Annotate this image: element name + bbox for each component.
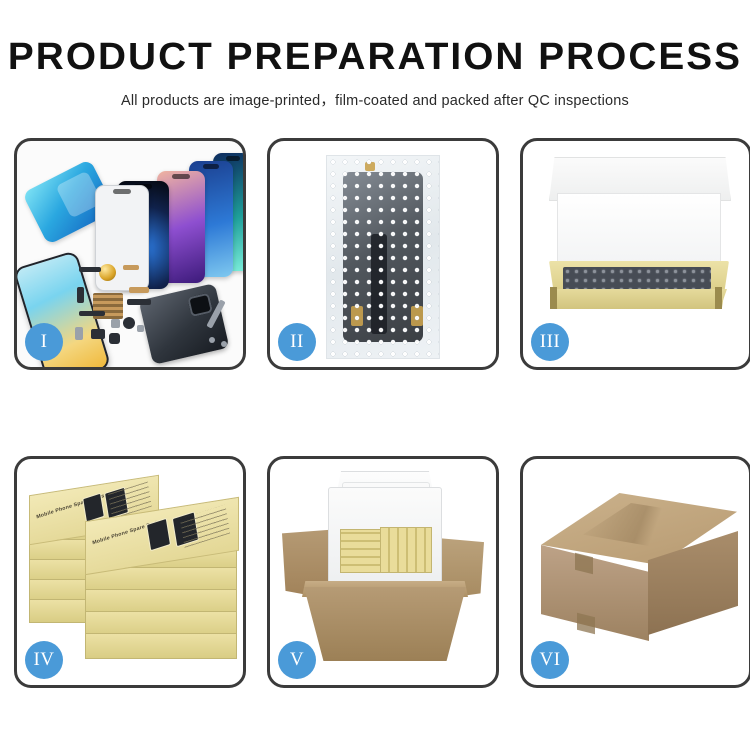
step-panel-i: I	[14, 138, 246, 370]
part-icon	[79, 267, 101, 272]
step-number-badge: I	[25, 323, 63, 361]
screw-icon	[209, 337, 215, 343]
bubble-texture	[327, 156, 439, 358]
step-panel-iii: III	[520, 138, 750, 370]
header: PRODUCT PREPARATION PROCESS All products…	[0, 0, 750, 110]
part-icon	[123, 265, 139, 270]
part-icon	[127, 299, 151, 305]
part-icon	[91, 329, 105, 339]
kraft-box-front-icon	[551, 289, 727, 309]
box-corner-icon	[550, 287, 557, 309]
step-number-badge: III	[531, 323, 569, 361]
kraft-boxes-icon	[380, 527, 432, 573]
process-step-grid: I II	[14, 138, 736, 738]
part-icon	[109, 333, 120, 344]
speaker-component-icon	[99, 264, 116, 281]
bubble-wrap-bag-icon	[326, 155, 440, 359]
part-icon	[79, 311, 105, 316]
step-panel-vi: VI	[520, 456, 750, 688]
carton-body-icon	[304, 587, 466, 661]
part-icon	[75, 327, 83, 340]
part-icon	[77, 287, 84, 303]
screw-icon	[221, 341, 227, 347]
step-number-badge: V	[278, 641, 316, 679]
tape-icon	[577, 613, 595, 634]
box-corner-icon	[715, 287, 722, 309]
page-subtitle: All products are image-printed，film-coat…	[0, 89, 750, 110]
part-icon	[111, 319, 120, 328]
part-icon	[123, 317, 135, 329]
step-panel-iv: Mobile Phone Spare Parts Mobile Phone Sp…	[14, 456, 246, 688]
step-number-badge: VI	[531, 641, 569, 679]
step-panel-v: V	[267, 456, 499, 688]
phone-chassis-icon	[139, 283, 230, 365]
page-title: PRODUCT PREPARATION PROCESS	[0, 38, 750, 76]
step-panel-ii: II	[267, 138, 499, 370]
product-preparation-infographic: PRODUCT PREPARATION PROCESS All products…	[0, 0, 750, 750]
part-icon	[129, 287, 149, 293]
step-number-badge: II	[278, 323, 316, 361]
step-number-badge: IV	[25, 641, 63, 679]
box-stack-icon: Mobile Phone Spare Parts Mobile Phone Sp…	[25, 473, 241, 673]
part-icon	[137, 325, 144, 332]
